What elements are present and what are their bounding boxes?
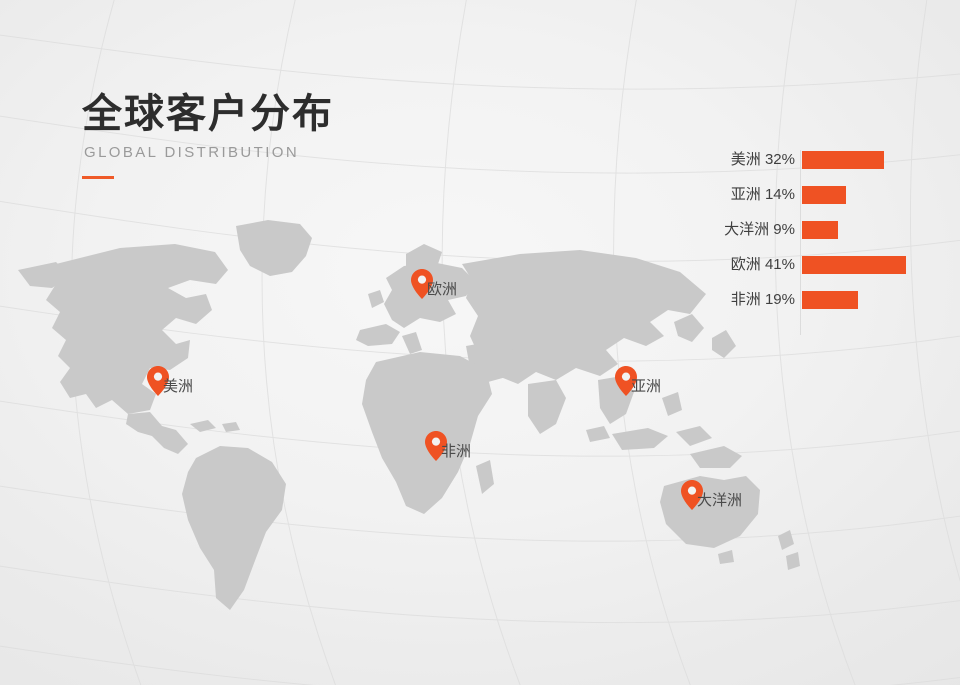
chart-bar-track bbox=[800, 290, 940, 310]
map-marker-label: 欧洲 bbox=[427, 282, 457, 298]
map-marker-label: 大洋洲 bbox=[697, 493, 742, 509]
map-marker-label: 亚洲 bbox=[631, 379, 661, 395]
slide-canvas: 全球客户分布 GLOBAL DISTRIBUTION bbox=[0, 0, 960, 685]
chart-bar-track bbox=[800, 185, 940, 205]
chart-bar-row[interactable]: 亚洲 14% bbox=[640, 185, 940, 205]
page-title: 全球客户分布 bbox=[82, 88, 334, 140]
chart-bar-fill bbox=[802, 256, 906, 274]
accent-underline bbox=[82, 176, 114, 179]
map-marker-oceania[interactable]: 大洋洲 bbox=[681, 480, 703, 510]
map-marker-label: 美洲 bbox=[163, 379, 193, 395]
chart-bar-label: 欧洲 41% bbox=[640, 255, 800, 275]
chart-bar-fill bbox=[802, 291, 858, 309]
chart-bar-track bbox=[800, 150, 940, 170]
chart-bar-track bbox=[800, 255, 940, 275]
chart-bar-label: 美洲 32% bbox=[640, 150, 800, 170]
chart-bar-label: 非洲 19% bbox=[640, 290, 800, 310]
chart-bar-label: 亚洲 14% bbox=[640, 185, 800, 205]
distribution-bar-chart: 美洲 32% 亚洲 14% 大洋洲 9% 欧洲 41% 非洲 19% bbox=[640, 150, 940, 335]
chart-bar-row[interactable]: 大洋洲 9% bbox=[640, 220, 940, 240]
chart-bar-track bbox=[800, 220, 940, 240]
chart-bar-row[interactable]: 美洲 32% bbox=[640, 150, 940, 170]
header-block: 全球客户分布 GLOBAL DISTRIBUTION bbox=[82, 88, 334, 179]
map-marker-africa[interactable]: 非洲 bbox=[425, 431, 447, 461]
chart-bar-fill bbox=[802, 221, 838, 239]
chart-bar-fill bbox=[802, 186, 846, 204]
chart-bar-fill bbox=[802, 151, 884, 169]
map-marker-label: 非洲 bbox=[441, 444, 471, 460]
map-marker-americas[interactable]: 美洲 bbox=[147, 366, 169, 396]
chart-bar-row[interactable]: 欧洲 41% bbox=[640, 255, 940, 275]
map-marker-europe[interactable]: 欧洲 bbox=[411, 269, 433, 299]
map-marker-asia[interactable]: 亚洲 bbox=[615, 366, 637, 396]
chart-bar-label: 大洋洲 9% bbox=[640, 220, 800, 240]
page-subtitle: GLOBAL DISTRIBUTION bbox=[84, 142, 334, 164]
chart-bar-row[interactable]: 非洲 19% bbox=[640, 290, 940, 310]
